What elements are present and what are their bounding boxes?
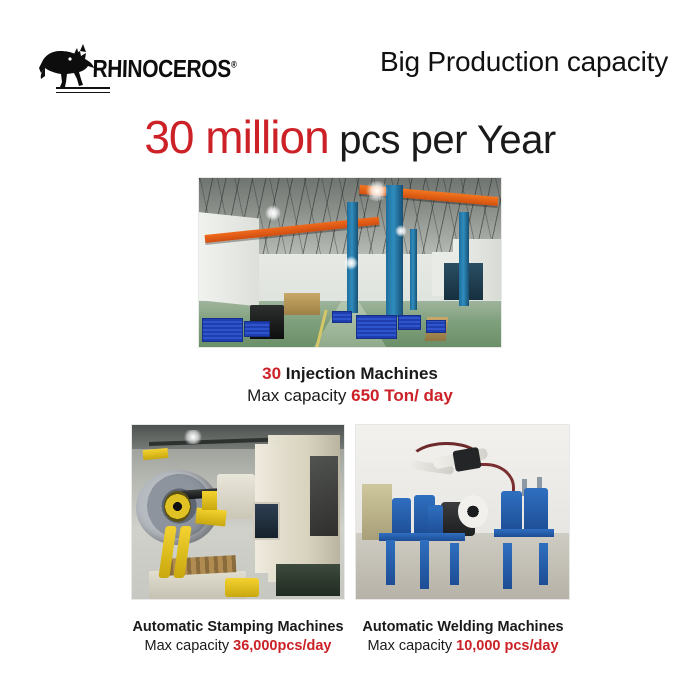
photo-column-3 — [459, 212, 469, 307]
main-photo-caption: 30 Injection Machines Max capacity 650 T… — [0, 363, 700, 407]
capacity-value: 36,000pcs/day — [233, 638, 331, 654]
photo-welding-fixture — [428, 505, 443, 536]
rhinoceros-logo-icon — [36, 42, 98, 88]
caption-line-2: Max capacity 10,000 pcs/day — [343, 637, 583, 656]
caption-line-2: Max capacity 36,000pcs/day — [118, 637, 358, 656]
photo-control-cabinet — [362, 484, 392, 540]
photo-yellow-guard — [225, 578, 259, 597]
photo-crate — [356, 315, 397, 339]
injection-machine-label: Injection Machines — [281, 364, 438, 383]
photo-ceiling-light — [183, 430, 203, 444]
photo-crate — [426, 320, 446, 334]
headline: 30 million pcs per Year — [0, 114, 700, 160]
capacity-label: Max capacity — [367, 638, 456, 654]
photo-conveyor — [276, 564, 340, 595]
caption-line-2: Max capacity 650 Ton/ day — [0, 385, 700, 407]
photo-wire-reel — [458, 495, 488, 528]
welding-photo-caption: Automatic Welding Machines Max capacity … — [343, 618, 583, 655]
caption-line-1: 30 Injection Machines — [0, 363, 700, 385]
capacity-label: Max capacity — [144, 638, 233, 654]
caption-line-1: Automatic Stamping Machines — [118, 618, 358, 637]
photo-crate — [202, 318, 243, 342]
stamping-machine-photo — [131, 424, 345, 600]
welding-machine-photo — [355, 424, 570, 600]
photo-column-2 — [386, 185, 403, 317]
photo-welding-fixture — [392, 498, 411, 536]
brand-wordmark: RHINOCEROS® — [92, 56, 237, 84]
photo-table-leg — [539, 543, 548, 585]
injection-machine-count: 30 — [262, 364, 281, 383]
photo-machine-left — [198, 212, 259, 307]
photo-welding-fixture — [524, 488, 547, 533]
photo-crate — [398, 315, 421, 331]
stamping-photo-caption: Automatic Stamping Machines Max capacity… — [118, 618, 358, 655]
capacity-label: Max capacity — [247, 386, 351, 405]
capacity-value: 650 Ton/ day — [351, 386, 453, 405]
photo-table-leg — [503, 543, 512, 588]
photo-welding-fixture — [501, 491, 522, 533]
photo-yellow-guard — [202, 491, 217, 510]
photo-crate — [244, 321, 270, 337]
brand-logo: RHINOCEROS® — [36, 40, 216, 88]
logo-underline — [56, 87, 110, 89]
registered-trademark-icon: ® — [231, 59, 237, 70]
logo-underline-secondary — [56, 92, 110, 93]
page-title: Big Production capacity — [380, 46, 668, 78]
photo-table-leg — [386, 540, 395, 585]
photo-table-leg — [450, 543, 459, 585]
factory-interior-photo — [198, 177, 502, 348]
caption-line-1: Automatic Welding Machines — [343, 618, 583, 637]
headline-highlight: 30 million — [144, 111, 328, 163]
photo-ceiling-light — [344, 256, 358, 270]
brand-wordmark-text: RHINOCEROS — [92, 56, 231, 83]
photo-press-dark-panel — [310, 456, 338, 536]
page-header: RHINOCEROS® Big Production capacity — [0, 38, 700, 94]
headline-rest: pcs per Year — [329, 118, 556, 162]
photo-control-panel — [253, 502, 280, 541]
photo-table-leg — [420, 540, 429, 589]
photo-column-4 — [410, 229, 417, 310]
capacity-value: 10,000 pcs/day — [456, 638, 558, 654]
photo-work-table — [494, 529, 554, 537]
photo-crate — [332, 311, 352, 323]
photo-pallet-stack — [284, 293, 320, 315]
